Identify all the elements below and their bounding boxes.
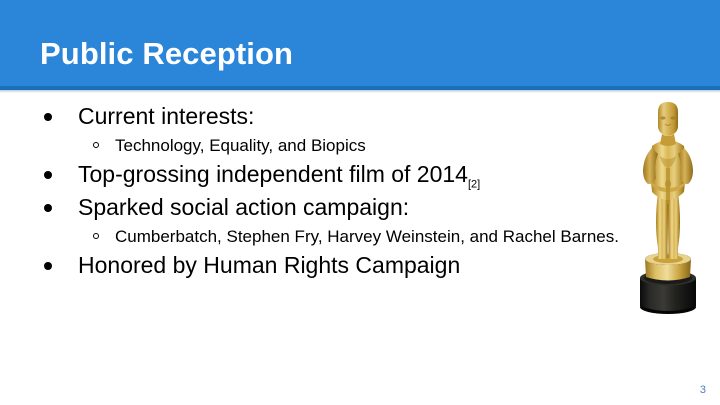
bullet-disc-icon: [44, 113, 52, 121]
bullet-circle-icon: [93, 142, 99, 148]
sub-bullet-text: Cumberbatch, Stephen Fry, Harvey Weinste…: [115, 227, 619, 246]
bullet-text: Current interests:: [78, 103, 254, 129]
slide: Public Reception Current interests: Tech…: [0, 0, 720, 405]
sub-bullet-text: Technology, Equality, and Biopics: [115, 136, 366, 155]
bullet-text: Honored by Human Rights Campaign: [78, 252, 460, 278]
bullet-disc-icon: [44, 204, 52, 212]
citation-marker: [2]: [468, 179, 480, 191]
bullet-list-level1: Current interests: Technology, Equality,…: [0, 100, 620, 282]
title-banner-shadow: [0, 90, 720, 93]
page-number: 3: [700, 384, 706, 396]
sub-bullet-item-supporters: Cumberbatch, Stephen Fry, Harvey Weinste…: [0, 224, 620, 249]
bullet-circle-icon: [93, 233, 99, 239]
bullet-text: Sparked social action campaign:: [78, 194, 409, 220]
bullet-item-current-interests: Current interests:: [0, 100, 620, 133]
bullet-list-level2-interests: Technology, Equality, and Biopics: [0, 133, 620, 158]
bullet-text: Top-grossing independent film of 2014: [78, 161, 468, 187]
bullet-item-social-action: Sparked social action campaign:: [0, 191, 620, 224]
bullet-list-level2-campaign: Cumberbatch, Stephen Fry, Harvey Weinste…: [0, 224, 620, 249]
bullet-item-top-grossing: Top-grossing independent film of 2014[2]: [0, 158, 620, 191]
bullet-item-honored: Honored by Human Rights Campaign: [0, 249, 620, 282]
oscar-head: [658, 102, 678, 146]
sub-bullet-item-topics: Technology, Equality, and Biopics: [0, 133, 620, 158]
oscar-statuette-image: [618, 96, 718, 322]
bullet-disc-icon: [44, 171, 52, 179]
slide-title: Public Reception: [40, 36, 293, 72]
body-content: Current interests: Technology, Equality,…: [0, 100, 620, 282]
bullet-disc-icon: [44, 262, 52, 270]
